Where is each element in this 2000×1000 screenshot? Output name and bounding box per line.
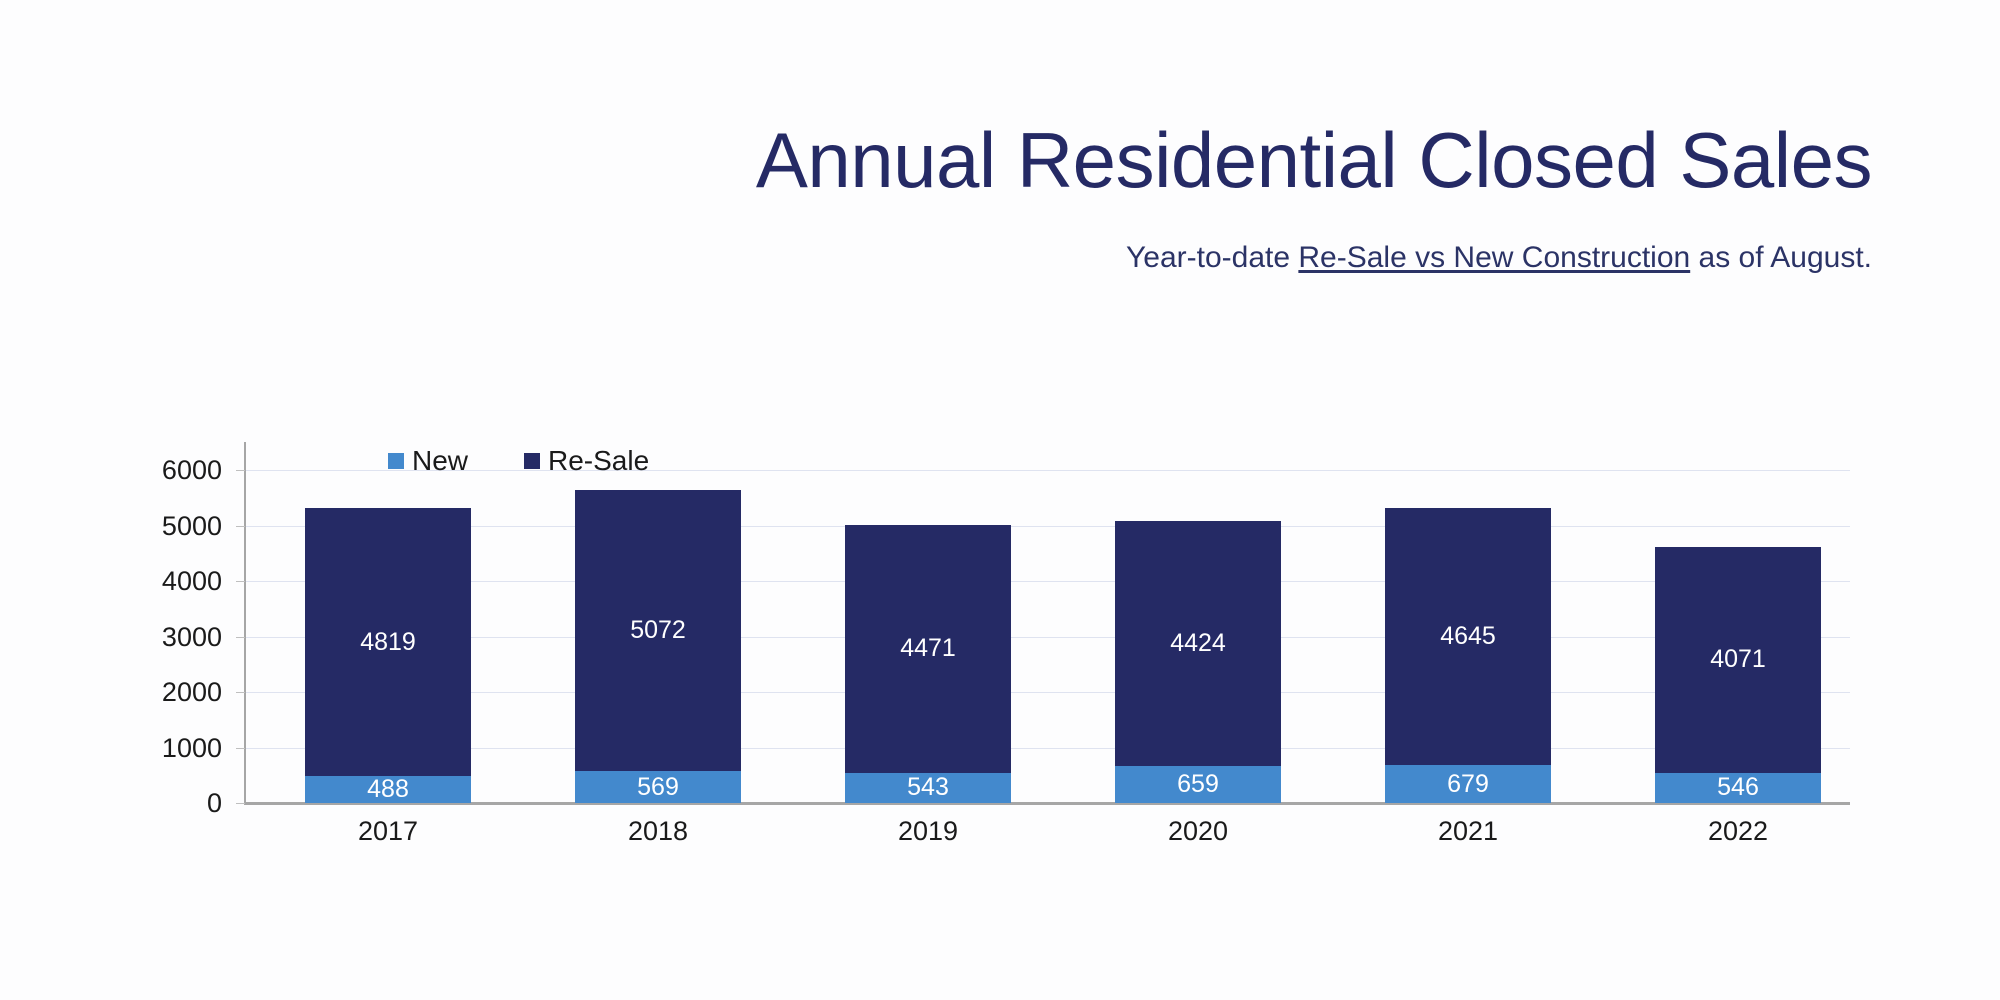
y-axis-label: 1000 — [76, 735, 236, 762]
bar-value-new: 546 — [1717, 775, 1759, 800]
bar-group[interactable]: 4071546 — [1655, 462, 1821, 803]
bar-chart: 0100020003000400050006000 48194885072569… — [0, 0, 2000, 1000]
x-axis-label: 2017 — [288, 816, 488, 846]
y-axis-label: 4000 — [76, 568, 236, 595]
y-axis-label: 2000 — [76, 679, 236, 706]
bar-segment-resale[interactable]: 4819 — [305, 508, 471, 775]
chart-legend: New Re-Sale — [388, 447, 649, 475]
y-axis-tick — [236, 637, 245, 638]
y-axis-tick — [236, 748, 245, 749]
bar-value-new: 543 — [907, 775, 949, 800]
legend-swatch-new-icon — [388, 453, 404, 469]
gridline — [246, 526, 1850, 527]
legend-label-new: New — [412, 447, 468, 475]
bar-group[interactable]: 4645679 — [1385, 462, 1551, 803]
bar-value-new: 569 — [637, 775, 679, 800]
x-axis-label: 2021 — [1368, 816, 1568, 846]
bar-segment-new[interactable]: 546 — [1655, 773, 1821, 803]
bar-group[interactable]: 5072569 — [575, 462, 741, 803]
y-axis-label: 5000 — [76, 513, 236, 540]
y-axis-tick — [236, 526, 245, 527]
legend-swatch-resale-icon — [524, 453, 540, 469]
bar-group[interactable]: 4471543 — [845, 462, 1011, 803]
plot-area: 4819488507256944715434424659464567940715… — [246, 462, 1850, 803]
y-axis-tick — [236, 803, 245, 804]
y-axis-label: 3000 — [76, 624, 236, 651]
legend-item-resale[interactable]: Re-Sale — [524, 447, 649, 475]
bar-segment-resale[interactable]: 5072 — [575, 490, 741, 771]
bar-group[interactable]: 4424659 — [1115, 462, 1281, 803]
x-axis-label: 2019 — [828, 816, 1028, 846]
bar-group[interactable]: 4819488 — [305, 462, 471, 803]
bar-segment-new[interactable]: 543 — [845, 773, 1011, 803]
y-axis-tick — [236, 581, 245, 582]
bar-segment-new[interactable]: 488 — [305, 776, 471, 803]
bar-value-resale: 4071 — [1710, 647, 1766, 672]
y-axis-tick — [236, 470, 245, 471]
bar-value-resale: 4424 — [1170, 631, 1226, 656]
bar-segment-resale[interactable]: 4471 — [845, 525, 1011, 773]
bar-segment-new[interactable]: 569 — [575, 771, 741, 803]
bar-value-resale: 4471 — [900, 636, 956, 661]
bar-value-new: 679 — [1447, 772, 1489, 797]
legend-label-resale: Re-Sale — [548, 447, 649, 475]
x-axis-label: 2018 — [558, 816, 758, 846]
bar-value-new: 659 — [1177, 772, 1219, 797]
y-axis-label: 6000 — [76, 457, 236, 484]
bar-segment-resale[interactable]: 4071 — [1655, 547, 1821, 773]
bar-value-resale: 4819 — [360, 630, 416, 655]
x-axis-label: 2022 — [1638, 816, 1838, 846]
bar-value-resale: 5072 — [630, 618, 686, 643]
y-axis-tick — [236, 692, 245, 693]
bar-value-new: 488 — [367, 777, 409, 802]
gridline — [246, 581, 1850, 582]
gridline — [246, 692, 1850, 693]
gridline — [246, 748, 1850, 749]
legend-item-new[interactable]: New — [388, 447, 468, 475]
bar-segment-new[interactable]: 679 — [1385, 765, 1551, 803]
bar-value-resale: 4645 — [1440, 624, 1496, 649]
y-axis-label: 0 — [76, 790, 236, 817]
x-axis-label: 2020 — [1098, 816, 1298, 846]
bar-segment-resale[interactable]: 4424 — [1115, 521, 1281, 767]
bar-segment-new[interactable]: 659 — [1115, 766, 1281, 803]
bar-segment-resale[interactable]: 4645 — [1385, 508, 1551, 766]
gridline — [246, 637, 1850, 638]
